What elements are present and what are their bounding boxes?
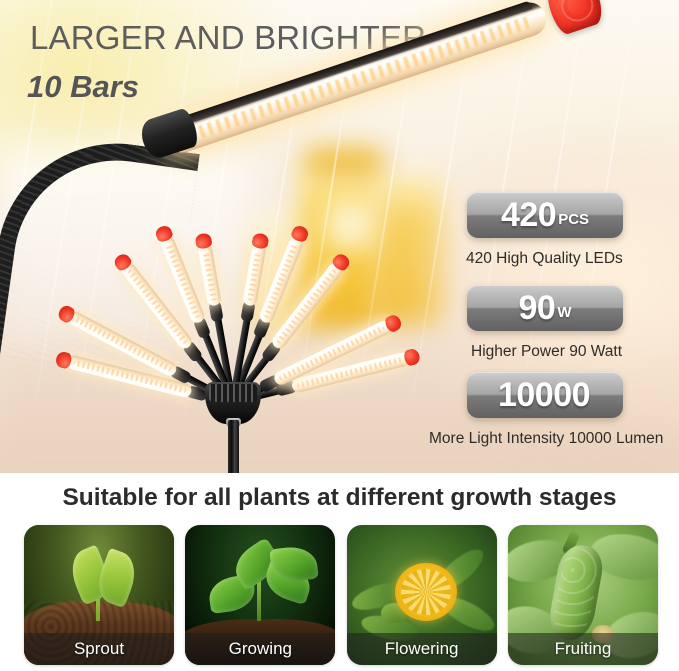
growth-stage-card: Growing [185, 525, 335, 665]
spec-badge-leds: 420 PCS [467, 192, 623, 238]
spec-badge-lumen: 10000 [467, 372, 623, 418]
growth-stage-card: Sprout [24, 525, 174, 665]
growth-stage-label: Sprout [24, 633, 174, 665]
product-ten-bar-fan [0, 222, 470, 472]
led-tube-bar-icon [197, 243, 222, 306]
spec-badge-number: 10000 [498, 378, 590, 412]
hub-ribs [209, 384, 257, 402]
section-title: Suitable for all plants at different gro… [0, 484, 679, 512]
spec-badge-number: 420 [501, 198, 556, 232]
spec-badge-unit: W [557, 295, 571, 321]
spec-caption-power: Higher Power 90 Watt [471, 343, 622, 361]
support-pole-icon [228, 420, 239, 473]
tube-highlight [173, 12, 525, 133]
growth-stage-label: Fruiting [508, 633, 658, 665]
spec-badge-unit: PCS [558, 202, 589, 228]
spec-badge-power: 90 W [467, 285, 623, 331]
led-strip [172, 15, 533, 147]
spec-caption-leds: 420 High Quality LEDs [466, 250, 623, 268]
product-single-bar [148, 28, 618, 188]
spec-badge-number: 90 [519, 291, 556, 325]
growth-stage-label: Flowering [347, 633, 497, 665]
growth-stages-section: Suitable for all plants at different gro… [0, 473, 679, 671]
growth-stage-card-list: Sprout Growing Flowering [24, 525, 658, 665]
hero-section: LARGER AND BRIGHTER 10 Bars 420 PCS 420 … [0, 0, 679, 473]
growth-stage-label: Growing [185, 633, 335, 665]
growth-stage-card: Flowering [347, 525, 497, 665]
page-subtitle: 10 Bars [27, 69, 139, 105]
growth-stage-card: Fruiting [508, 525, 658, 665]
spec-caption-lumen: More Light Intensity 10000 Lumen [429, 430, 663, 448]
led-tube-bar-icon [242, 243, 267, 306]
flower-bloom-icon [395, 563, 457, 621]
